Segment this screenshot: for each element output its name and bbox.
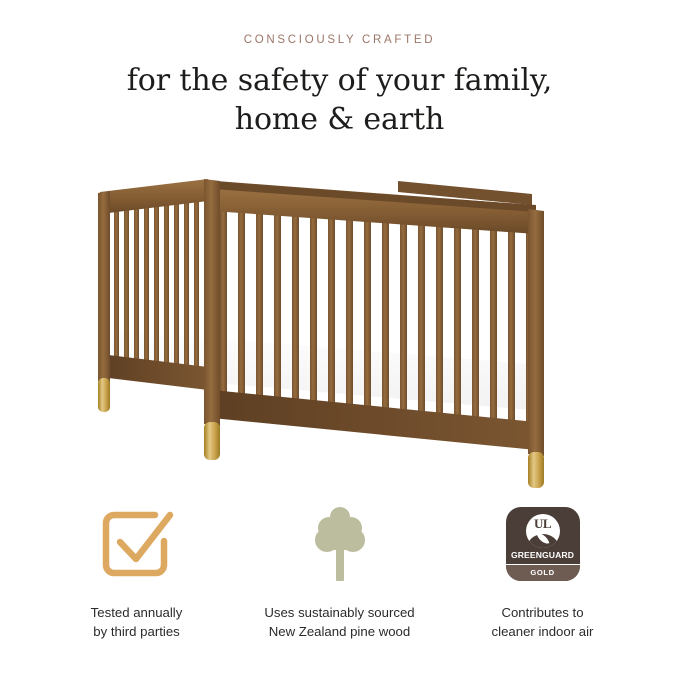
- eyebrow-text: CONSCIOUSLY CRAFTED: [0, 34, 679, 48]
- page-title-line-1: for the safety of your family,: [0, 61, 679, 100]
- foot-cap-front-right: [528, 452, 544, 488]
- feature-item-sustainable-wood: Uses sustainably sourced New Zealand pin…: [238, 496, 441, 641]
- page-title-line-2: home & earth: [0, 100, 679, 139]
- feature-caption: Uses sustainably sourced New Zealand pin…: [264, 604, 414, 641]
- page-title: for the safety of your family, home & ea…: [0, 61, 679, 139]
- feature-item-indoor-air: UL GREENGUARD GOLD Contributes to cleane…: [441, 496, 644, 641]
- greenguard-gold-badge-icon: UL GREENGUARD GOLD: [506, 507, 580, 581]
- greenguard-tier-bar: GOLD: [506, 564, 580, 581]
- feature-caption-line-1: Contributes to: [492, 604, 594, 623]
- feature-icon-wrap: [98, 496, 176, 592]
- checkbox-check-icon: [98, 507, 176, 581]
- feature-list: Tested annually by third parties: [0, 496, 679, 641]
- feature-item-tested-annually: Tested annually by third parties: [35, 496, 238, 641]
- foot-cap-front-left: [204, 422, 220, 460]
- greenguard-wordmark: GREENGUARD: [511, 551, 574, 560]
- feature-caption-line-1: Tested annually: [91, 604, 183, 623]
- crib-front-panel: [212, 178, 536, 490]
- marketing-infographic-page: CONSCIOUSLY CRAFTED for the safety of yo…: [0, 0, 679, 679]
- feature-icon-wrap: UL GREENGUARD GOLD: [506, 496, 580, 592]
- crib-illustration: [80, 168, 600, 490]
- feature-caption-line-2: cleaner indoor air: [492, 623, 594, 642]
- ul-logo-icon: UL: [526, 514, 560, 548]
- product-image: [0, 168, 679, 490]
- page-header: CONSCIOUSLY CRAFTED for the safety of yo…: [0, 34, 679, 139]
- feature-icon-wrap: [309, 496, 371, 592]
- feature-caption: Tested annually by third parties: [91, 604, 183, 641]
- ul-logo-text: UL: [526, 517, 560, 530]
- greenguard-tier-label: GOLD: [530, 569, 554, 577]
- feature-caption-line-1: Uses sustainably sourced: [264, 604, 414, 623]
- feature-caption-line-2: by third parties: [91, 623, 183, 642]
- foot-cap-rear-left: [98, 378, 110, 412]
- tree-icon: [309, 504, 371, 584]
- feature-caption-line-2: New Zealand pine wood: [264, 623, 414, 642]
- feature-caption: Contributes to cleaner indoor air: [492, 604, 594, 641]
